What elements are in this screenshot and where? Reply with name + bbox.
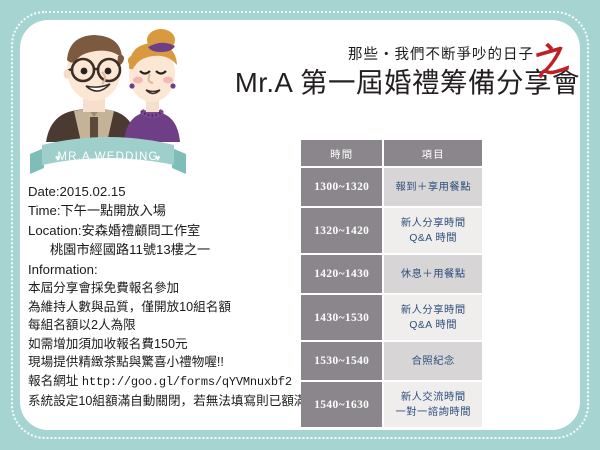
row-item-line: 新人分享時間	[384, 300, 482, 318]
event-date: Date:2015.02.15	[28, 182, 300, 201]
row-item-line: 一對一諮詢時間	[384, 405, 482, 423]
signup-line: 報名網址 http://goo.gl/forms/qYVMnuxbf2	[28, 372, 300, 392]
poster-title-row: Mr.A 第一屆婚禮筹備分享會 之	[190, 67, 580, 99]
row-time: 1430~1530	[301, 295, 382, 340]
table-row: 1320~1420 新人分享時間Q&A 時間	[301, 208, 482, 253]
note-item: 本屆分享會採免費報名參加	[28, 279, 300, 298]
row-item: 新人分享時間Q&A 時間	[384, 208, 482, 253]
couple-illustration-svg: MR.A WEDDING ♥ ♥	[28, 14, 188, 179]
note-item: 每組名額以2人為限	[28, 316, 300, 335]
row-item-line: 合照紀念	[384, 354, 482, 369]
row-item: 新人交流時間一對一諮詢時間	[384, 382, 482, 427]
page-title: Mr.A 第一屆婚禮筹備分享會	[235, 67, 580, 98]
bride-left-earring	[129, 83, 134, 88]
signup-label: 報名網址	[28, 374, 78, 388]
banner-tail-right	[172, 148, 186, 174]
table-row: 1420~1430 休息＋用餐點	[301, 255, 482, 293]
closing-note: 系統設定10組額滿自動關閉，若無法填寫則已額滿	[28, 392, 300, 411]
event-location: Location:安森婚禮顧問工作室	[28, 221, 300, 240]
row-item: 新人分享時間Q&A 時間	[384, 295, 482, 340]
row-time: 1320~1420	[301, 208, 382, 253]
groom-right-eye	[105, 68, 112, 75]
row-item-line: 新人分享時間	[384, 213, 482, 231]
signup-url-link[interactable]: http://goo.gl/forms/qYVMnuxbf2	[82, 375, 292, 389]
row-time: 1300~1320	[301, 168, 382, 206]
note-item: 為維持人數與品質，僅開放10組名額	[28, 298, 300, 317]
wedding-event-poster: MR.A WEDDING ♥ ♥ 那些・我們不断爭吵的日子 Mr.A 第一屆婚禮…	[0, 0, 600, 450]
note-item: 現場提供精緻茶點與驚喜小禮物喔!!	[28, 353, 300, 372]
information-label: Information:	[28, 260, 300, 279]
row-item: 休息＋用餐點	[384, 255, 482, 293]
event-time: Time:下午一點開放入場	[28, 201, 300, 220]
bride-left-blush	[133, 77, 143, 84]
row-item-line: 報到＋享用餐點	[384, 180, 482, 195]
row-item-line: Q&A 時間	[384, 231, 482, 249]
row-item-line: 新人交流時間	[384, 387, 482, 405]
row-time: 1530~1540	[301, 342, 382, 380]
table-row: 1430~1530 新人分享時間Q&A 時間	[301, 295, 482, 340]
banner-tail-left	[30, 148, 44, 174]
row-time: 1540~1630	[301, 382, 382, 427]
poster-header: 那些・我們不断爭吵的日子 Mr.A 第一屆婚禮筹備分享會 之	[190, 48, 580, 99]
heart-icon-right: ♥	[155, 153, 160, 163]
column-header-item: 項目	[384, 140, 482, 166]
groom-left-eye	[81, 68, 88, 75]
couple-illustration: MR.A WEDDING ♥ ♥	[28, 14, 188, 179]
table-row: 1540~1630 新人交流時間一對一諮詢時間	[301, 382, 482, 427]
row-item: 合照紀念	[384, 342, 482, 380]
poster-subtitle: 那些・我們不断爭吵的日子	[190, 48, 580, 64]
table-row: 1300~1320 報到＋享用餐點	[301, 168, 482, 206]
note-item: 如需增加須加收報名費150元	[28, 335, 300, 354]
event-address: 桃園市經國路11號13樓之一	[28, 240, 300, 259]
groom-ear	[64, 69, 71, 78]
schedule-table: 時間 項目 1300~1320 報到＋享用餐點 1320~1420 新人分享時間…	[299, 138, 484, 429]
table-header-row: 時間 項目	[301, 140, 482, 166]
heart-icon-left: ♥	[55, 153, 60, 163]
bride-right-earring	[170, 83, 175, 88]
row-time: 1420~1430	[301, 255, 382, 293]
table-row: 1530~1540 合照紀念	[301, 342, 482, 380]
event-info-block: Date:2015.02.15 Time:下午一點開放入場 Location:安…	[28, 182, 300, 411]
row-item: 報到＋享用餐點	[384, 168, 482, 206]
row-item-line: Q&A 時間	[384, 318, 482, 336]
bride-right-blush	[163, 77, 173, 84]
column-header-time: 時間	[301, 140, 382, 166]
row-item-line: 休息＋用餐點	[384, 267, 482, 282]
banner-label: MR.A WEDDING	[57, 151, 158, 163]
